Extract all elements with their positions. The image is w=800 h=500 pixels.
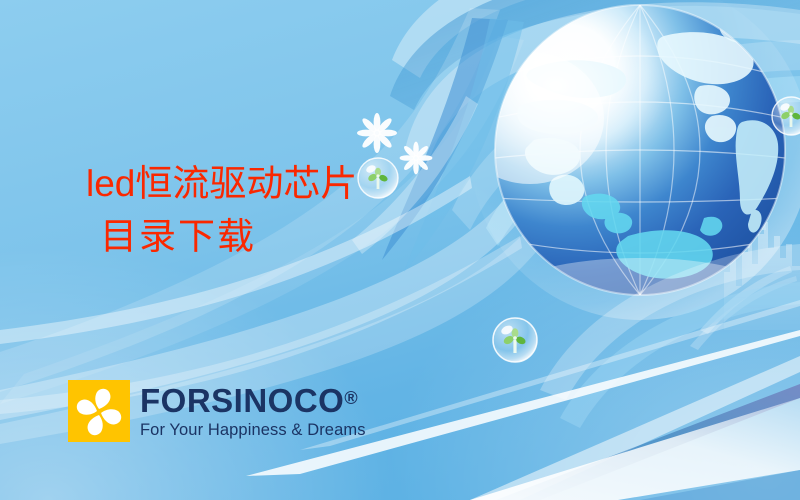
brand-logo[interactable]: FORSINOCO® For Your Happiness & Dreams (68, 380, 366, 442)
globe-icon (444, 0, 800, 326)
flower-burst-icon (357, 113, 397, 153)
tagline: For Your Happiness & Dreams (140, 422, 366, 439)
flower-burst-icon (400, 142, 433, 175)
bubble-windmill-icon (358, 158, 398, 198)
background-swirls (390, 0, 800, 246)
wordmark-text: FORSINOCO (140, 382, 344, 419)
promo-banner: led恒流驱动芯片 目录下载 FORSINOCO® For Your Happi… (0, 0, 800, 500)
city-skyline-icon (690, 206, 800, 350)
logo-text-block: FORSINOCO® For Your Happiness & Dreams (140, 384, 366, 439)
headline-line-2: 目录下载 (100, 216, 357, 260)
registered-trademark-icon: ® (344, 388, 357, 408)
foreground-swirls (352, 96, 800, 428)
wordmark: FORSINOCO® (140, 384, 366, 417)
bubble-windmill-icon (493, 318, 537, 362)
headline-line-1: led恒流驱动芯片 (86, 162, 357, 207)
headline-latin: led (86, 163, 135, 204)
page-title: led恒流驱动芯片 目录下载 (86, 162, 357, 259)
four-petal-pinwheel-icon (68, 380, 130, 442)
headline-cjk: 恒流驱动芯片 (135, 164, 357, 205)
bubble-windmill-icon (772, 97, 800, 135)
